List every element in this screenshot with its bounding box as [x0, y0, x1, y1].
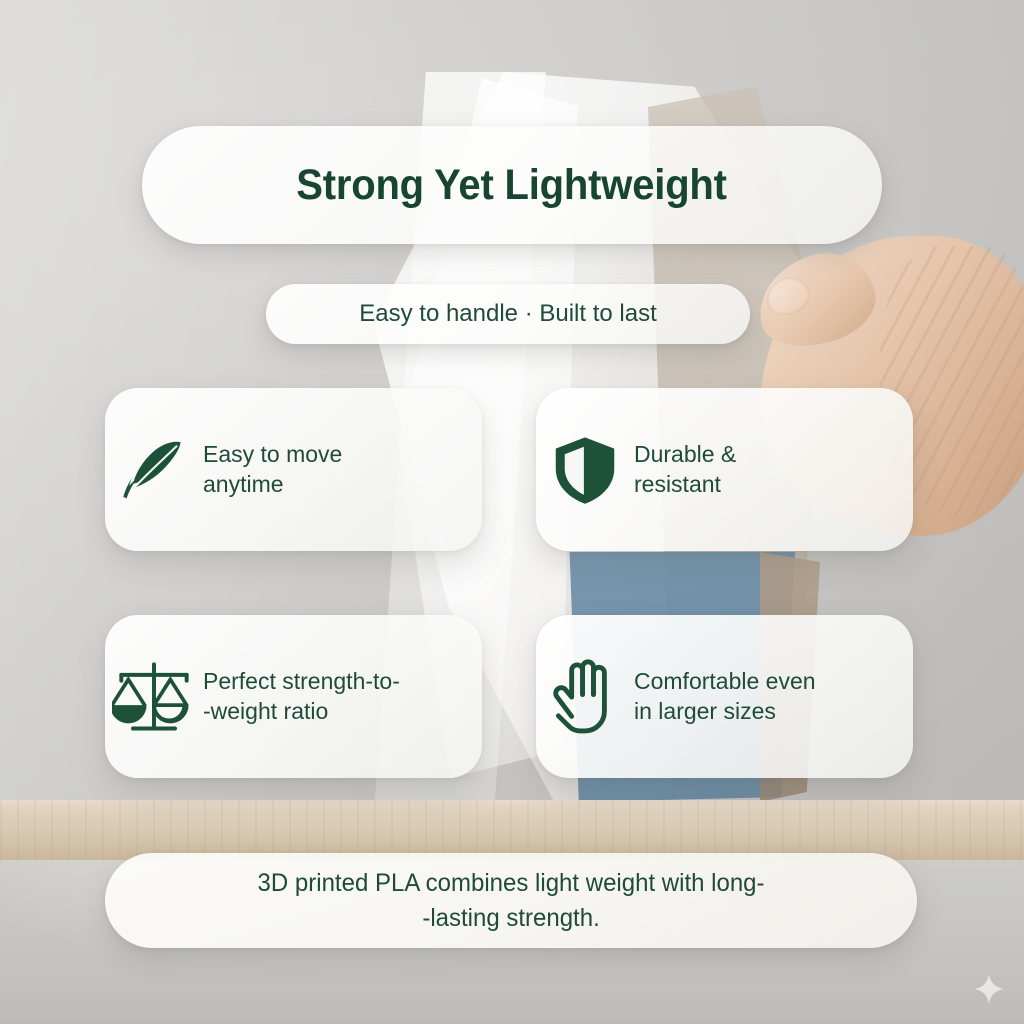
- feature-card-easy-to-move[interactable]: Easy to move anytime: [105, 388, 482, 551]
- feature-label: Comfortable even in larger sizes: [634, 667, 822, 726]
- title-pill: Strong Yet Lightweight: [142, 126, 882, 244]
- subtitle-pill: Easy to handle · Built to last: [266, 284, 750, 344]
- page-subtitle: Easy to handle · Built to last: [359, 300, 657, 328]
- sparkle-icon: [972, 972, 1006, 1006]
- footer-pill: 3D printed PLA combines light weight wit…: [105, 853, 917, 948]
- feature-label: Easy to move anytime: [203, 440, 348, 499]
- footer-description: 3D printed PLA combines light weight wit…: [258, 866, 765, 935]
- feature-card-durable[interactable]: Durable & resistant: [536, 388, 913, 551]
- overlay-ui: Strong Yet Lightweight Easy to handle · …: [0, 0, 1024, 1024]
- screenshot-canvas: Strong Yet Lightweight Easy to handle · …: [0, 0, 1024, 1024]
- balance-scale-icon: [105, 658, 203, 736]
- page-title: Strong Yet Lightweight: [297, 161, 728, 210]
- feature-label: Perfect strength-to- -weight ratio: [203, 667, 406, 726]
- open-hand-icon: [536, 657, 634, 737]
- feature-card-comfortable[interactable]: Comfortable even in larger sizes: [536, 615, 913, 778]
- feather-icon: [105, 433, 203, 507]
- feature-label: Durable & resistant: [634, 440, 742, 499]
- feature-card-strength-to-weight[interactable]: Perfect strength-to- -weight ratio: [105, 615, 482, 778]
- shield-icon: [536, 434, 634, 506]
